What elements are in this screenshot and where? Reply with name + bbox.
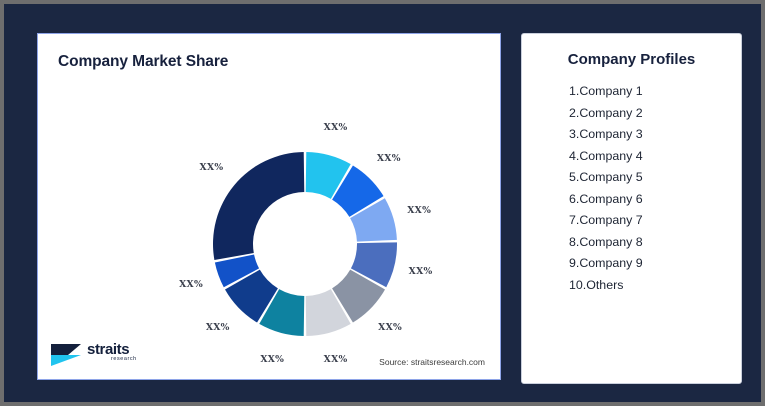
- logo-subtext: research: [111, 356, 137, 362]
- list-item: 7.Company 7: [569, 210, 643, 232]
- donut-slice: [213, 152, 304, 260]
- list-item: 5.Company 5: [569, 167, 643, 189]
- straits-research-logo: straits research: [51, 337, 161, 371]
- donut-slices: [213, 152, 397, 336]
- list-item: 4.Company 4: [569, 146, 643, 168]
- profiles-title: Company Profiles: [522, 51, 741, 68]
- chart-card: Company Market Share XX%XX%XX%XX%XX%XX%X…: [37, 33, 501, 380]
- arrow-logo-icon: [51, 344, 85, 366]
- source-attribution: Source: straitsresearch.com: [379, 357, 485, 367]
- donut-slice-label: XX%: [206, 322, 230, 333]
- donut-slice-label: XX%: [260, 354, 284, 365]
- donut-slice-label: XX%: [407, 205, 431, 216]
- logo-wordmark: straits: [87, 342, 129, 357]
- list-item: 9.Company 9: [569, 253, 643, 275]
- list-item: 3.Company 3: [569, 124, 643, 146]
- donut-chart: XX%XX%XX%XX%XX%XX%XX%XX%XX%XX%: [38, 34, 502, 381]
- donut-slice-label: XX%: [409, 266, 433, 277]
- list-item: 6.Company 6: [569, 189, 643, 211]
- donut-slice-label: XX%: [200, 162, 224, 173]
- outer-frame: Company Market Share XX%XX%XX%XX%XX%XX%X…: [4, 4, 761, 402]
- company-profiles-card: Company Profiles 1.Company 12.Company 23…: [521, 33, 742, 384]
- donut-slice-label: XX%: [324, 354, 348, 365]
- list-item: 2.Company 2: [569, 103, 643, 125]
- donut-slice-label: XX%: [179, 279, 203, 290]
- list-item: 10.Others: [569, 275, 643, 297]
- list-item: 1.Company 1: [569, 81, 643, 103]
- list-item: 8.Company 8: [569, 232, 643, 254]
- profiles-list: 1.Company 12.Company 23.Company 34.Compa…: [569, 81, 643, 296]
- donut-slice-label: XX%: [378, 322, 402, 333]
- donut-chart-svg: [38, 34, 502, 381]
- donut-slice-label: XX%: [377, 153, 401, 164]
- donut-slice-label: XX%: [324, 122, 348, 133]
